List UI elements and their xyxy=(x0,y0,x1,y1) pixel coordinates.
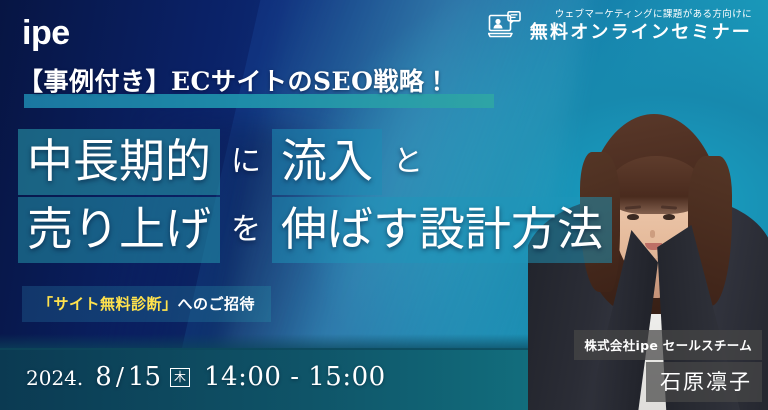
seminar-strip: ウェブマーケティングに課題がある方向けに 無料オンラインセミナー xyxy=(488,10,752,42)
schedule-separator: / xyxy=(116,363,124,391)
schedule-year: 2024. xyxy=(26,366,83,390)
ipe-logo: ipe xyxy=(22,16,70,50)
headline-highlight-uriage: 売り上げ xyxy=(18,197,220,263)
headline-highlight-chochouki: 中長期的 xyxy=(18,129,220,195)
headline-highlight-ryunyu: 流入 xyxy=(272,129,382,195)
schedule-day: 15 xyxy=(128,362,161,392)
invitation-rest-text: へのご招待 xyxy=(178,295,256,313)
headline-particle-to: と xyxy=(382,147,434,177)
seminar-banner: ipe ウェブマーケティングに課題がある方向けに 無料オンラインセミナー 【事例… xyxy=(0,0,768,410)
headline-highlight-sekkeihoho: 伸ばす設計方法 xyxy=(272,197,612,263)
headline-line-2: 売り上げ を 伸ばす設計方法 xyxy=(18,196,612,264)
schedule-row: 2024. 8 / 15 木 14:00 - 15:00 xyxy=(26,362,386,392)
subtitle-text: 【事例付き】ECサイトのSEO戦略！ xyxy=(18,62,450,98)
presenter-eye-right xyxy=(663,214,675,220)
online-seminar-laptop-icon xyxy=(488,11,522,41)
presenter-name-label: 石原凛子 xyxy=(646,362,762,402)
headline-particle-wo: を xyxy=(220,215,272,245)
presenter-eye-left xyxy=(627,214,639,220)
schedule-time: 14:00 - 15:00 xyxy=(204,362,386,392)
schedule-month: 8 xyxy=(95,362,112,392)
headline-line-1: 中長期的 に 流入 と xyxy=(18,128,612,196)
presenter-company-label: 株式会社ipe セールスチーム xyxy=(574,330,762,360)
presenter-nose xyxy=(650,230,655,238)
headline-block: 中長期的 に 流入 と 売り上げ を 伸ばす設計方法 xyxy=(18,128,612,264)
subtitle-block: 【事例付き】ECサイトのSEO戦略！ xyxy=(18,62,450,98)
seminar-text-block: ウェブマーケティングに課題がある方向けに 無料オンラインセミナー xyxy=(530,10,752,42)
invitation-badge: 「サイト無料診断」へのご招待 xyxy=(22,286,271,322)
schedule-day-of-week: 木 xyxy=(170,368,190,387)
seminar-lead-text: ウェブマーケティングに課題がある方向けに xyxy=(555,10,752,20)
headline-particle-ni: に xyxy=(220,147,272,177)
invitation-highlight-text: 「サイト無料診断」 xyxy=(38,295,178,313)
seminar-main-text: 無料オンラインセミナー xyxy=(530,24,752,42)
